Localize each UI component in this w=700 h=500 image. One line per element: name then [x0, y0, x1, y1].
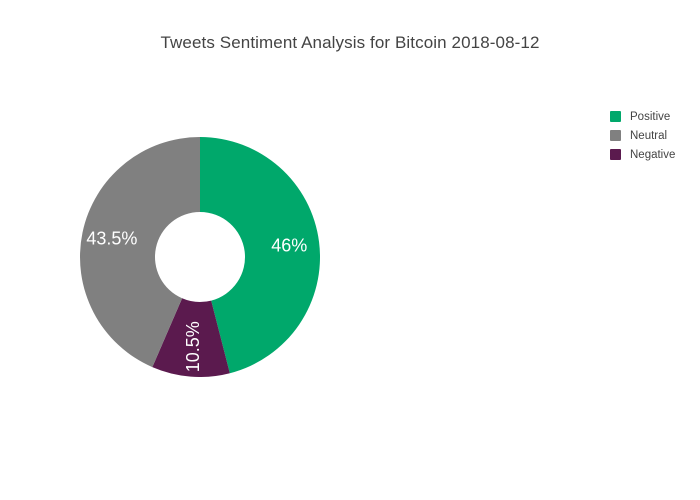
legend-item-positive[interactable]: Positive — [610, 107, 696, 126]
legend-swatch-positive — [610, 111, 621, 122]
donut-chart: 46%10.5%43.5% — [80, 137, 320, 377]
legend: Positive Neutral Negative — [610, 107, 696, 164]
legend-item-negative[interactable]: Negative — [610, 145, 696, 164]
slice-label-negative: 10.5% — [183, 321, 203, 372]
legend-swatch-neutral — [610, 130, 621, 141]
legend-swatch-negative — [610, 149, 621, 160]
legend-label-negative: Negative — [630, 149, 675, 161]
chart-canvas: Tweets Sentiment Analysis for Bitcoin 20… — [0, 0, 700, 500]
legend-item-neutral[interactable]: Neutral — [610, 126, 696, 145]
slice-label-neutral: 43.5% — [86, 229, 137, 249]
slice-label-positive: 46% — [271, 236, 307, 256]
legend-label-neutral: Neutral — [630, 130, 667, 142]
donut-svg: 46%10.5%43.5% — [80, 137, 320, 377]
chart-title: Tweets Sentiment Analysis for Bitcoin 20… — [0, 33, 700, 53]
legend-label-positive: Positive — [630, 111, 670, 123]
